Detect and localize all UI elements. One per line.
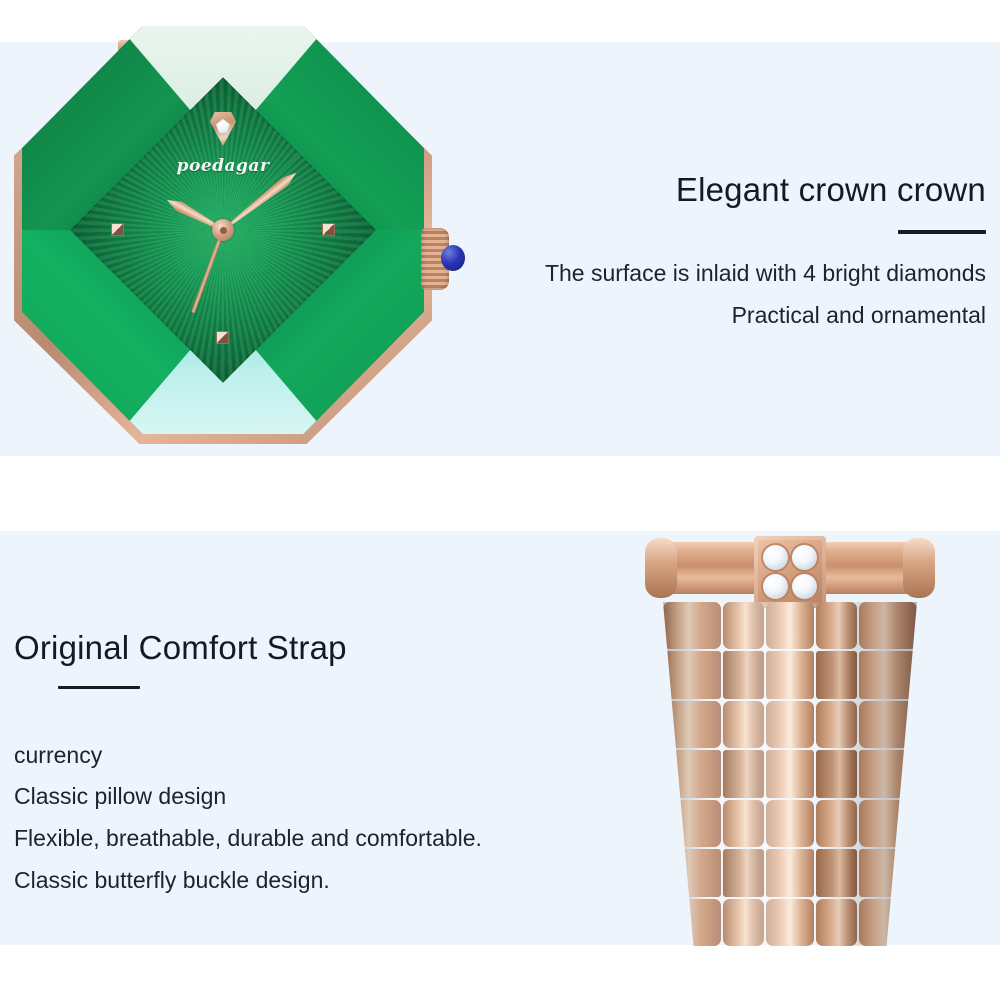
rose-gold-link-bracelet: [645, 526, 935, 946]
four-diamond-ornament: [754, 536, 826, 608]
clasp-end-right: [903, 538, 935, 598]
green-faceted-octagon-watch-face: poedagar: [8, 18, 438, 448]
bracelet-link: [723, 750, 764, 797]
crown-body-line-2: Practical and ornamental: [426, 294, 986, 337]
bracelet-link: [859, 602, 917, 649]
bracelet-clasp-head: [645, 536, 935, 602]
hands-center-cap: [212, 219, 234, 241]
square-marker-6: [216, 331, 229, 344]
bracelet-link: [766, 602, 813, 649]
diamond-gem-icon-4: [792, 574, 817, 599]
diamond-gem-icon-2: [792, 545, 817, 570]
crown-copy-block: Elegant crown crown The surface is inlai…: [426, 170, 986, 337]
watch-face-feature-section: poedagar Elegant crown crown: [0, 0, 1000, 470]
dial-content: poedagar: [115, 122, 331, 338]
bracelet-link: [859, 651, 917, 698]
crown-body-lines: The surface is inlaid with 4 bright diam…: [426, 252, 986, 337]
bracelet-link-row: [663, 602, 917, 649]
diamond-gem-icon-3: [763, 574, 788, 599]
crown-heading-underline: [898, 230, 986, 234]
bracelet-link-row: [663, 750, 917, 797]
diamond-marker-icon: [210, 112, 236, 146]
strap-body-line-4: Classic butterfly buckle design.: [14, 860, 584, 902]
bracelet-link: [766, 701, 813, 748]
bracelet-link: [816, 701, 857, 748]
dial-brand-logo: poedagar: [177, 156, 270, 176]
strap-copy-block: Original Comfort Strap currency Classic …: [14, 628, 584, 902]
diamond-gem-icon-1: [763, 545, 788, 570]
crown-body-line-1: The surface is inlaid with 4 bright diam…: [426, 252, 986, 295]
bracelet-link: [663, 849, 721, 896]
bracelet-link: [663, 800, 721, 847]
bracelet-link-row: [663, 899, 917, 946]
strap-heading-underline: [58, 686, 140, 689]
bracelet-link: [816, 849, 857, 896]
bracelet-link-row: [663, 651, 917, 698]
bracelet-link: [723, 849, 764, 896]
bracelet-link: [816, 800, 857, 847]
bracelet-link: [766, 849, 813, 896]
bracelet-link-rows: [663, 602, 917, 946]
bracelet-link: [723, 651, 764, 698]
bracelet-link: [663, 701, 721, 748]
bracelet-link: [859, 800, 917, 847]
bracelet-link: [723, 899, 764, 946]
bracelet-link: [816, 602, 857, 649]
bracelet-link: [663, 651, 721, 698]
bracelet-link: [859, 750, 917, 797]
bracelet-link: [723, 701, 764, 748]
bracelet-link: [723, 800, 764, 847]
square-marker-3: [322, 223, 335, 236]
crown-heading: Elegant crown crown: [426, 170, 986, 210]
watch-crystal-octagon: poedagar: [22, 26, 424, 434]
square-marker-9: [111, 223, 124, 236]
diamond-gem-icon: [216, 119, 230, 133]
bracelet-link: [816, 651, 857, 698]
bracelet-link: [663, 899, 721, 946]
bracelet-link: [766, 651, 813, 698]
bracelet-link: [859, 899, 917, 946]
strap-heading: Original Comfort Strap: [14, 628, 584, 668]
bracelet-link: [816, 899, 857, 946]
bracelet-link-row: [663, 701, 917, 748]
bracelet-link-row: [663, 849, 917, 896]
bracelet-link-row: [663, 800, 917, 847]
bracelet-link: [663, 750, 721, 797]
clasp-end-left: [645, 538, 677, 598]
strap-body-lines: currency Classic pillow design Flexible,…: [14, 735, 584, 902]
strap-feature-section: Original Comfort Strap currency Classic …: [0, 500, 1000, 1000]
bracelet-link: [663, 602, 721, 649]
bracelet-link: [766, 899, 813, 946]
watch-dial: poedagar: [70, 77, 375, 382]
bracelet-link: [816, 750, 857, 797]
bracelet-link: [766, 800, 813, 847]
bracelet-link: [723, 602, 764, 649]
bracelet-link: [859, 701, 917, 748]
bracelet-link: [766, 750, 813, 797]
strap-body-line-1: currency: [14, 735, 584, 777]
bracelet-link: [859, 849, 917, 896]
strap-body-line-3: Flexible, breathable, durable and comfor…: [14, 818, 584, 860]
product-detail-page: poedagar Elegant crown crown: [0, 0, 1000, 1000]
strap-body-line-2: Classic pillow design: [14, 776, 584, 818]
